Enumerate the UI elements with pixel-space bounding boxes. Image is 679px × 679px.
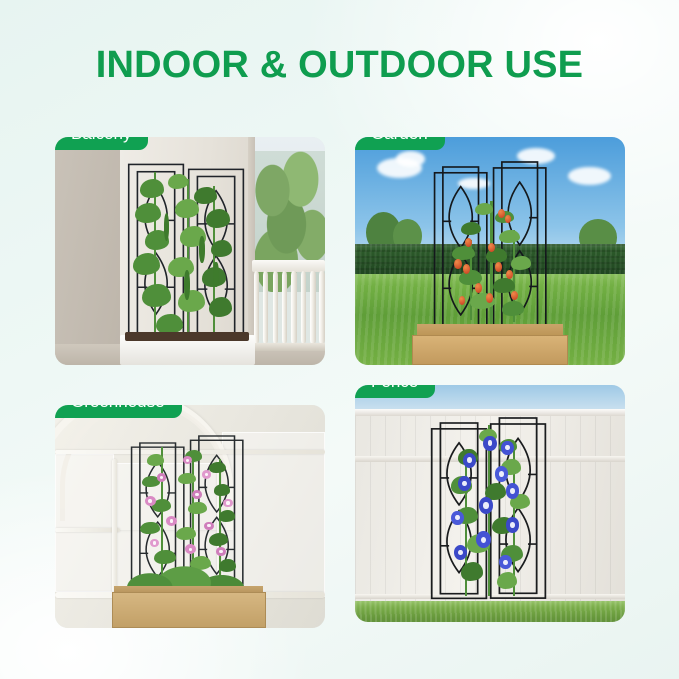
greenhouse-horizontal-rib bbox=[55, 528, 120, 532]
badge-balcony: Balcony bbox=[55, 137, 148, 150]
trellis-panel-right bbox=[487, 418, 549, 598]
greenhouse-planter-box bbox=[112, 592, 266, 628]
greenhouse-photo bbox=[55, 405, 325, 628]
badge-garden: Garden bbox=[355, 137, 445, 150]
badge-fence: Fence bbox=[355, 385, 435, 398]
fence-photo bbox=[355, 385, 625, 622]
fence-grass bbox=[355, 601, 625, 622]
baluster bbox=[273, 271, 278, 344]
page-title: INDOOR & OUTDOOR USE bbox=[0, 44, 679, 87]
balcony-wall-left bbox=[55, 137, 125, 365]
trellis-panel-right bbox=[490, 162, 549, 340]
panel-garden[interactable]: Garden bbox=[355, 137, 625, 365]
balcony-soil bbox=[125, 332, 249, 341]
poster-canvas: INDOOR & OUTDOOR USE bbox=[0, 0, 679, 679]
grass-texture bbox=[355, 601, 625, 622]
balcony-balustrade bbox=[252, 260, 325, 351]
balcony-photo bbox=[55, 137, 325, 365]
panel-fence[interactable]: Fence bbox=[355, 385, 625, 622]
cloud bbox=[396, 151, 426, 167]
balustrade-bottom-rail bbox=[252, 343, 325, 351]
badge-greenhouse: Greenhouse bbox=[55, 405, 182, 418]
baluster bbox=[263, 271, 268, 344]
trellis-panel-left bbox=[125, 162, 187, 344]
trellis-panel-left bbox=[428, 423, 490, 598]
baluster bbox=[291, 271, 296, 344]
baluster bbox=[319, 271, 324, 344]
trellis-panel-left bbox=[431, 167, 490, 340]
baluster bbox=[301, 271, 306, 344]
garden-photo bbox=[355, 137, 625, 365]
baluster bbox=[282, 271, 287, 344]
baluster bbox=[310, 271, 315, 344]
greenhouse-vertical-rib bbox=[112, 459, 117, 597]
panel-balcony[interactable]: Balcony bbox=[55, 137, 325, 365]
garden-raised-bed bbox=[412, 335, 569, 365]
fence-top-cap bbox=[355, 409, 625, 417]
trellis-panel-right bbox=[185, 167, 247, 345]
panel-greenhouse[interactable]: Greenhouse bbox=[55, 405, 325, 628]
cloud bbox=[568, 167, 611, 185]
baluster bbox=[254, 271, 259, 344]
